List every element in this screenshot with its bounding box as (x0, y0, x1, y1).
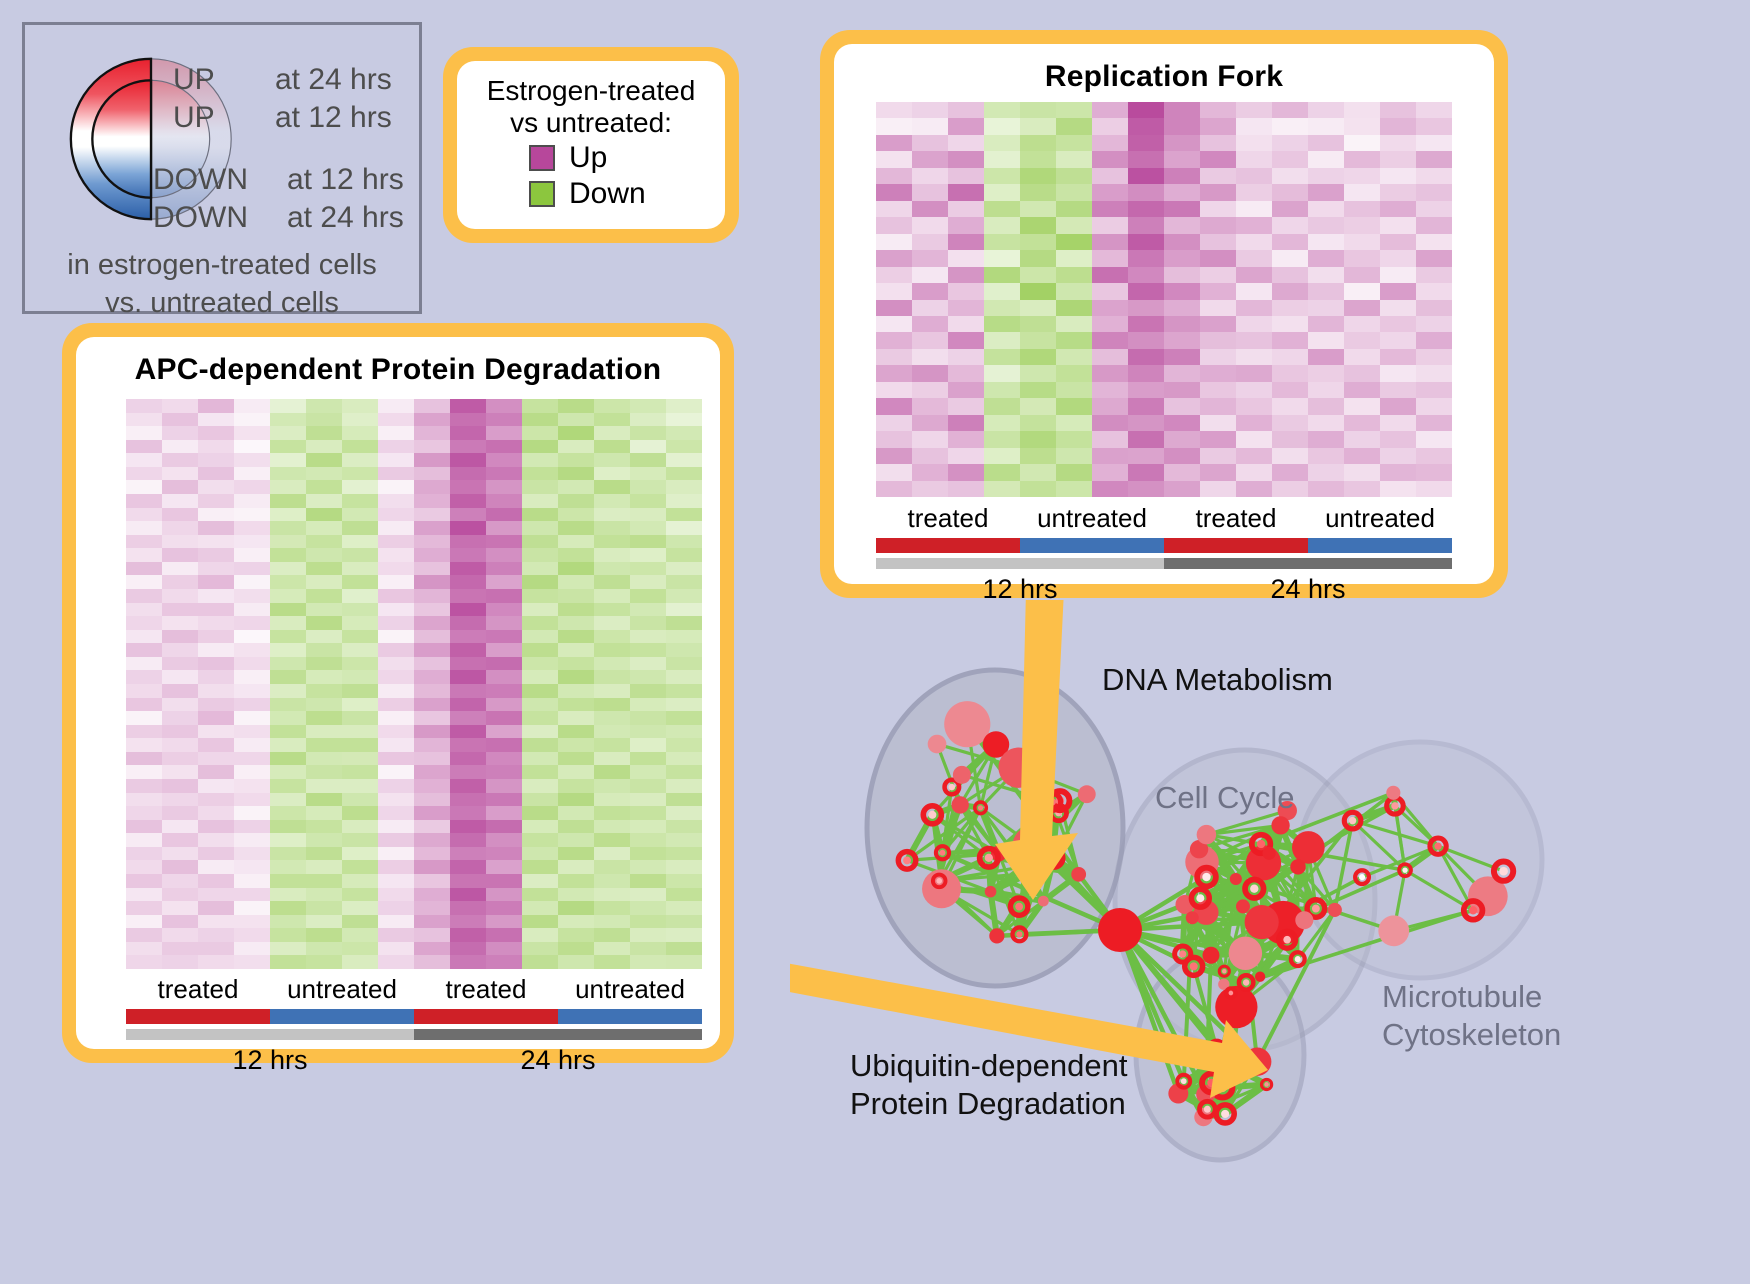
panel-replication-fork: Replication Fork treated untreated treat… (820, 30, 1508, 598)
heatmap-cell (522, 793, 558, 807)
heatmap-cell (1380, 234, 1416, 250)
heatmap-cell (1164, 464, 1200, 480)
heatmap-cell (450, 928, 486, 942)
network-node (1197, 825, 1217, 845)
heatmap-cell (630, 535, 666, 549)
heatmap-cell (1344, 217, 1380, 233)
heatmap-cell (630, 643, 666, 657)
heatmap-cell (1128, 398, 1164, 414)
heatmap-cell (1164, 217, 1200, 233)
heatmap-cell (522, 915, 558, 929)
network-node-core (1221, 1110, 1229, 1118)
heatmap-cell (378, 494, 414, 508)
heatmap-cell (1272, 481, 1308, 497)
heatmap-cell (162, 955, 198, 969)
heatmap-cell (666, 765, 702, 779)
heatmap-cell (486, 738, 522, 752)
network-node (1185, 957, 1203, 975)
heatmap-cell (1056, 448, 1092, 464)
network-node (1078, 785, 1096, 803)
heatmap-cell (414, 643, 450, 657)
heatmap-cell (198, 820, 234, 834)
heatmap-cell (1416, 464, 1452, 480)
heatmap-cell (1164, 118, 1200, 134)
heatmap-cell (414, 860, 450, 874)
heatmap-cell (198, 942, 234, 956)
heatmap-cell (1056, 135, 1092, 151)
heatmap-cell (198, 535, 234, 549)
heatmap-cell (522, 494, 558, 508)
heatmap-cell (522, 765, 558, 779)
heatmap-cell (522, 684, 558, 698)
heatmap-cell (912, 217, 948, 233)
heatmap-cell (876, 316, 912, 332)
heatmap-cell (558, 779, 594, 793)
heatmap-cell (486, 725, 522, 739)
heatmap-cell (306, 820, 342, 834)
heatmap-cell (1128, 431, 1164, 447)
heatmap-cell (342, 657, 378, 671)
heatmap-cell (270, 793, 306, 807)
heatmap-cell (1272, 365, 1308, 381)
heatmap-cell (198, 562, 234, 576)
heatmap-cell (1236, 481, 1272, 497)
heatmap-cell (414, 765, 450, 779)
heatmap-cell (486, 915, 522, 929)
heatmap-cell (876, 151, 912, 167)
heatmap-cell (378, 738, 414, 752)
heatmap-cell (666, 833, 702, 847)
heatmap-cell (1344, 300, 1380, 316)
heatmap-cell (558, 589, 594, 603)
heatmap-cell (198, 494, 234, 508)
heatmap-cell (1092, 448, 1128, 464)
heatmap-cell (1200, 217, 1236, 233)
heatmap-cell (948, 267, 984, 283)
heatmap-cell (522, 657, 558, 671)
heatmap-cell (630, 711, 666, 725)
timepoint-bar-apc (126, 1029, 702, 1040)
heatmap-cell (666, 643, 702, 657)
heatmap-cell (270, 575, 306, 589)
heatmap-cell (912, 184, 948, 200)
heatmap-cell (270, 453, 306, 467)
heatmap-cell (126, 467, 162, 481)
network-node-core (1181, 1078, 1187, 1084)
heatmap-cell (342, 562, 378, 576)
heatmap-cell (414, 440, 450, 454)
heatmap-cell (876, 481, 912, 497)
heatmap-cell (594, 847, 630, 861)
network-node (1098, 908, 1142, 952)
heatmap-cell (1092, 415, 1128, 431)
heatmap-cell (486, 413, 522, 427)
heatmap-cell (162, 562, 198, 576)
heatmap-cell (342, 901, 378, 915)
heatmap-cell (1164, 448, 1200, 464)
heatmap-cell (666, 548, 702, 562)
heatmap-cell (666, 942, 702, 956)
heatmap-cell (378, 765, 414, 779)
heatmap-cell (414, 548, 450, 562)
network-node (898, 852, 916, 870)
heatmap-cell (1020, 234, 1056, 250)
heatmap-cell (306, 955, 342, 969)
heatmap-cell (1236, 151, 1272, 167)
heatmap-cell (306, 399, 342, 413)
heatmap-cell (342, 684, 378, 698)
heatmap-cell (270, 630, 306, 644)
network-node-core (1434, 843, 1441, 850)
heatmap-cell (1200, 135, 1236, 151)
heatmap-cell (450, 440, 486, 454)
heatmap-cell (1416, 431, 1452, 447)
heatmap-cell (558, 535, 594, 549)
network-node (1226, 988, 1236, 998)
heatmap-cell (450, 806, 486, 820)
heatmap-cell (270, 684, 306, 698)
heatmap-cell (594, 820, 630, 834)
heatmap-cell (234, 928, 270, 942)
heatmap-cell (630, 589, 666, 603)
heatmap-cell (126, 874, 162, 888)
heatmap-cell (558, 765, 594, 779)
heatmap-cell (1344, 415, 1380, 431)
heatmap-cell (1164, 332, 1200, 348)
heatmap-cell (1380, 464, 1416, 480)
heatmap-cell (234, 779, 270, 793)
legend-label-down: Down (569, 177, 646, 211)
heatmap-cell (1092, 464, 1128, 480)
heatmap-cell (486, 453, 522, 467)
heatmap-cell (414, 453, 450, 467)
heatmap-cell (522, 698, 558, 712)
heatmap-cell (342, 548, 378, 562)
heatmap-cell (342, 480, 378, 494)
heatmap-cell (630, 399, 666, 413)
heatmap-cell (876, 382, 912, 398)
heatmap-cell (1200, 464, 1236, 480)
heatmap-cell (378, 698, 414, 712)
heatmap-cell (450, 711, 486, 725)
heatmap-cell (1272, 151, 1308, 167)
heatmap-cell (630, 440, 666, 454)
heatmap-cell (1128, 267, 1164, 283)
network-node (1245, 879, 1264, 898)
heatmap-cell (1272, 464, 1308, 480)
heatmap-cell (912, 398, 948, 414)
heatmap-cell (630, 467, 666, 481)
heatmap-cell (1236, 102, 1272, 118)
heatmap-cell (594, 915, 630, 929)
heatmap-cell (306, 711, 342, 725)
heatmap-cell (876, 135, 912, 151)
heatmap-cell (234, 684, 270, 698)
heatmap-cell (234, 399, 270, 413)
heatmap-cell (342, 860, 378, 874)
heatmap-cell (1308, 332, 1344, 348)
heatmap-cell (342, 752, 378, 766)
heatmap-cell (630, 874, 666, 888)
heatmap-cell (594, 765, 630, 779)
network-node-core (1190, 962, 1198, 970)
heatmap-cell (1092, 184, 1128, 200)
heatmap-cell (306, 684, 342, 698)
heatmap-cell (1092, 250, 1128, 266)
heatmap-cell (876, 217, 912, 233)
heatmap-cell (126, 820, 162, 834)
heatmap-cell (198, 765, 234, 779)
heatmap-cell (486, 562, 522, 576)
heatmap-cell (342, 643, 378, 657)
heatmap-cell (414, 901, 450, 915)
heatmap-cell (1380, 398, 1416, 414)
heatmap-cell (1200, 201, 1236, 217)
key-row-label-0: UP (173, 65, 215, 95)
heatmap-cell (1200, 283, 1236, 299)
heatmap-cell (1128, 365, 1164, 381)
heatmap-cell (450, 752, 486, 766)
heatmap-cell (162, 467, 198, 481)
heatmap-cell (594, 440, 630, 454)
heatmap-cell (414, 508, 450, 522)
heatmap-cell (378, 847, 414, 861)
heatmap-cell (234, 806, 270, 820)
network-node (1262, 847, 1275, 860)
heatmap-cell (522, 589, 558, 603)
heatmap-cell (1308, 168, 1344, 184)
heatmap-cell (1092, 168, 1128, 184)
heatmap-cell (912, 135, 948, 151)
heatmap-cell (342, 793, 378, 807)
network-node (1261, 1079, 1271, 1089)
heatmap-cell (414, 779, 450, 793)
heatmap-cell (1416, 135, 1452, 151)
heatmap-cell (270, 480, 306, 494)
heatmap-cell (306, 589, 342, 603)
heatmap-cell (558, 725, 594, 739)
heatmap-cell (1344, 168, 1380, 184)
heatmap-cell (1200, 431, 1236, 447)
network-node (1219, 966, 1229, 976)
heatmap-cell (558, 603, 594, 617)
network-node-core (1243, 979, 1250, 986)
heatmap-cell (558, 793, 594, 807)
heatmap-cell (414, 752, 450, 766)
heatmap-cell (414, 575, 450, 589)
heatmap-cell (162, 630, 198, 644)
heatmap-cell (1056, 168, 1092, 184)
heatmap-cell (1056, 398, 1092, 414)
heatmap-cell (234, 426, 270, 440)
heatmap-cell (126, 494, 162, 508)
heatmap-cell (948, 365, 984, 381)
heatmap-cell (876, 332, 912, 348)
heatmap-cell (162, 915, 198, 929)
heatmap-cell (378, 793, 414, 807)
heatmap-cell (486, 548, 522, 562)
heatmap-cell (486, 806, 522, 820)
heatmap-cell (378, 616, 414, 630)
network-node-core (985, 854, 993, 862)
heatmap-cell (234, 793, 270, 807)
heatmap-cell (1056, 431, 1092, 447)
heatmap-cell (1308, 250, 1344, 266)
heatmap-cell (126, 616, 162, 630)
heatmap-cell (234, 453, 270, 467)
heatmap-cell (912, 415, 948, 431)
heatmap-cell (450, 955, 486, 969)
key-row-time-1: at 12 hrs (275, 103, 392, 133)
heatmap-cell (270, 820, 306, 834)
heatmap-cell (984, 118, 1020, 134)
heatmap-cell (948, 283, 984, 299)
heatmap-cell (306, 928, 342, 942)
heatmap-cell (270, 603, 306, 617)
heatmap-cell (1380, 135, 1416, 151)
heatmap-cell (378, 860, 414, 874)
heatmap-cell (306, 603, 342, 617)
heatmap-cell (558, 684, 594, 698)
heatmap-cell (1380, 415, 1416, 431)
heatmap-cell (666, 915, 702, 929)
heatmap-cell (630, 915, 666, 929)
heatmap-cell (1200, 365, 1236, 381)
heatmap-cell (558, 942, 594, 956)
heatmap-cell (1020, 102, 1056, 118)
heatmap-cell (1092, 217, 1128, 233)
heatmap-cell (450, 738, 486, 752)
heatmap-cell (594, 901, 630, 915)
heatmap-cell (558, 738, 594, 752)
heatmap-cell (1128, 316, 1164, 332)
network-node (1216, 1105, 1234, 1123)
network-node (928, 735, 947, 754)
network-node-core (1359, 874, 1365, 880)
heatmap-cell (306, 508, 342, 522)
heatmap-cell (666, 589, 702, 603)
heatmap-cell (198, 657, 234, 671)
heatmap-cell (450, 426, 486, 440)
heatmap-cell (450, 779, 486, 793)
heatmap-cell (342, 955, 378, 969)
heatmap-cell (306, 765, 342, 779)
heatmap-cell (270, 711, 306, 725)
heatmap-cell (1128, 102, 1164, 118)
network-node (923, 806, 941, 824)
heatmap-cell (1380, 217, 1416, 233)
heatmap-cell (486, 670, 522, 684)
heatmap-cell (912, 481, 948, 497)
heatmap-cell (876, 250, 912, 266)
heatmap-cell (486, 765, 522, 779)
heatmap-cell (1308, 365, 1344, 381)
heatmap-cell (126, 575, 162, 589)
heatmap-cell (1416, 184, 1452, 200)
heatmap-cell (306, 915, 342, 929)
heatmap-cell (162, 413, 198, 427)
heatmap-cell (1380, 349, 1416, 365)
heatmap-cell (414, 915, 450, 929)
heatmap-cell (378, 467, 414, 481)
heatmap-cell (1380, 448, 1416, 464)
heatmap-cell (630, 603, 666, 617)
heatmap-cell (1020, 201, 1056, 217)
heatmap-cell (666, 901, 702, 915)
heatmap-cell (1308, 135, 1344, 151)
heatmap-cell (1164, 184, 1200, 200)
heatmap-cell (378, 657, 414, 671)
cluster-label-microtubule-line-2: Cytoskeleton (1382, 1016, 1561, 1053)
heatmap-cell (198, 955, 234, 969)
heatmap-cell (1236, 382, 1272, 398)
heatmap-cell (594, 942, 630, 956)
heatmap-cell (342, 535, 378, 549)
heatmap-cell (270, 833, 306, 847)
heatmap-cell (306, 888, 342, 902)
heatmap-cell (912, 300, 948, 316)
heatmap-cell (306, 440, 342, 454)
heatmap-cell (486, 874, 522, 888)
heatmap-cell (378, 630, 414, 644)
heatmap-cell (306, 901, 342, 915)
network-node-core (1179, 950, 1186, 957)
heatmap-cell (948, 332, 984, 348)
heatmap-cell (1020, 382, 1056, 398)
heatmap-cell (450, 535, 486, 549)
heatmap-cell (522, 738, 558, 752)
heatmap-cell (876, 448, 912, 464)
heatmap-cell (594, 860, 630, 874)
heatmap-cell (486, 467, 522, 481)
heatmap-cell (378, 955, 414, 969)
heatmap-cell (1344, 464, 1380, 480)
heatmap-cell (1308, 448, 1344, 464)
heatmap-cell (666, 575, 702, 589)
heatmap-cell (1128, 349, 1164, 365)
heatmap-cell (450, 793, 486, 807)
heatmap-cell (306, 535, 342, 549)
heatmap-cell (450, 630, 486, 644)
heatmap-cell (342, 765, 378, 779)
heatmap-cell (234, 508, 270, 522)
heatmap-cell (1272, 168, 1308, 184)
heatmap-cell (234, 725, 270, 739)
heatmap-cell (234, 535, 270, 549)
heatmap-cell (1308, 217, 1344, 233)
heatmap-cell (450, 575, 486, 589)
heatmap-cell (342, 725, 378, 739)
heatmap-cell (126, 901, 162, 915)
heatmap-cell (1020, 250, 1056, 266)
heatmap-cell (162, 738, 198, 752)
heatmap-cell (198, 793, 234, 807)
heatmap-cell (198, 915, 234, 929)
heatmap-cell (1056, 481, 1092, 497)
heatmap-cell (198, 738, 234, 752)
network-node-core (978, 805, 983, 810)
heatmap-cell (162, 698, 198, 712)
heatmap-cell (1200, 184, 1236, 200)
network-node-core (949, 784, 956, 791)
heatmap-cell (414, 630, 450, 644)
heatmap-cell (630, 752, 666, 766)
heatmap-cell (378, 453, 414, 467)
heatmap-cell (234, 670, 270, 684)
heatmap-cell (378, 833, 414, 847)
heatmap-cell (558, 440, 594, 454)
heatmap-cell (198, 684, 234, 698)
